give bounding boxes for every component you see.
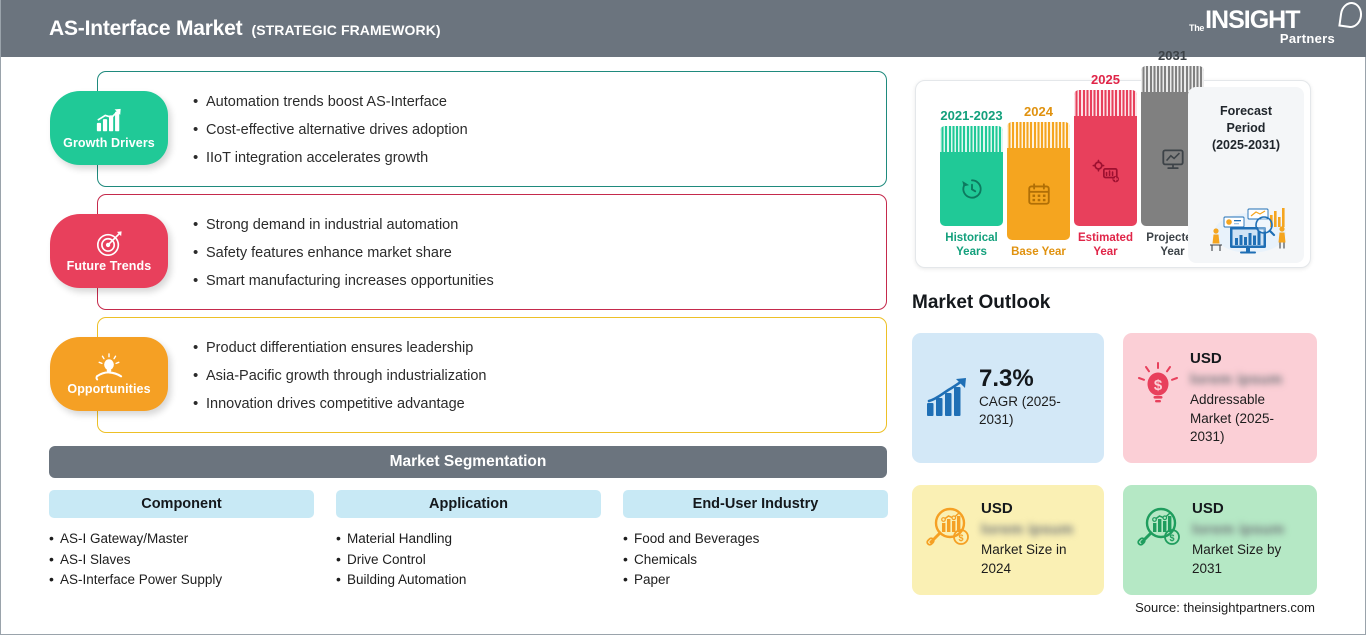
badge-label: Growth Drivers [63, 136, 155, 150]
list-item: Drive Control [336, 550, 601, 571]
bar-caption: Historical Years [940, 232, 1003, 259]
market-size-2031-label: Market Size by 2031 [1192, 541, 1304, 578]
header-title-group: AS-Interface Market (STRATEGIC FRAMEWORK… [49, 17, 441, 41]
market-size-2024-body: USD lorem ipsum Market Size in 2024 [981, 500, 1091, 578]
bar-shape [940, 126, 1003, 226]
bar-stripe [1074, 90, 1137, 116]
infographic-page: AS-Interface Market (STRATEGIC FRAMEWORK… [0, 0, 1366, 635]
forecast-line-2: Period [1188, 120, 1304, 137]
market-outlook-title: Market Outlook [912, 292, 1050, 314]
magnifier-chart-dollar-icon: $ [925, 506, 971, 550]
segment-title: End-User Industry [623, 490, 888, 518]
clock-rewind-icon [959, 176, 985, 202]
future-trends-panel: Strong demand in industrial automation S… [97, 194, 887, 310]
bar-body [940, 152, 1003, 226]
cagr-label: CAGR (2025-2031) [979, 393, 1091, 430]
segmentation-column-application: Application Material Handling Drive Cont… [336, 490, 601, 591]
future-trends-bullets: Strong demand in industrial automation S… [193, 211, 494, 295]
forecast-line-1: Forecast [1188, 103, 1304, 120]
list-item: Safety features enhance market share [193, 239, 494, 267]
list-item: Chemicals [623, 550, 888, 571]
list-item: Paper [623, 570, 888, 591]
list-item: AS-Interface Power Supply [49, 570, 314, 591]
segment-title: Application [336, 490, 601, 518]
currency-label: USD [1190, 350, 1304, 367]
timeline-bar-estimated: 2025 Estimated Year [1074, 72, 1137, 259]
growth-drivers-badge[interactable]: Growth Drivers [50, 91, 168, 165]
monitor-chart-icon [1159, 146, 1187, 172]
bar-caption: Estimated Year [1074, 232, 1137, 259]
list-item: Food and Beverages [623, 529, 888, 550]
list-item: Automation trends boost AS-Interface [193, 88, 468, 116]
bar-body [1007, 148, 1070, 240]
timeline-bar-historical: 2021-2023 Historical Years [940, 108, 1003, 259]
forecast-line-3: (2025-2031) [1188, 137, 1304, 154]
currency-label: USD [981, 500, 1091, 517]
bar-stripe [1007, 122, 1070, 148]
blurred-value: lorem ipsum [1192, 521, 1304, 538]
list-item: Building Automation [336, 570, 601, 591]
market-size-2031-body: USD lorem ipsum Market Size by 2031 [1192, 500, 1304, 578]
logo-the-text: The [1189, 23, 1204, 33]
bar-year-label: 2024 [1007, 104, 1070, 119]
segmentation-column-end-user-industry: End-User Industry Food and Beverages Che… [623, 490, 888, 591]
list-item: Smart manufacturing increases opportunit… [193, 267, 494, 295]
timeline-bar-base: 2024 [1007, 104, 1070, 260]
calendar-icon [1026, 181, 1052, 207]
list-item: Strong demand in industrial automation [193, 211, 494, 239]
bar-shape [1074, 90, 1137, 226]
market-segmentation-title: Market Segmentation [390, 453, 547, 471]
opportunities-badge[interactable]: Opportunities [50, 337, 168, 411]
bar-chart-arrow-icon [94, 107, 124, 135]
segment-title: Component [49, 490, 314, 518]
opportunities-panel: Product differentiation ensures leadersh… [97, 317, 887, 433]
market-size-2031-card: $ USD lorem ipsum Market Size by 2031 [1123, 485, 1317, 595]
list-item: IIoT integration accelerates growth [193, 144, 468, 172]
timeline-bars: 2021-2023 Historical Years 2024 [926, 81, 1206, 269]
svg-text:$: $ [1169, 533, 1174, 543]
logo-insight-text: INSIGHT [1205, 8, 1299, 33]
addressable-market-body: USD lorem ipsum Addressable Market (2025… [1190, 350, 1304, 447]
bar-year-label: 2031 [1141, 48, 1204, 63]
segmentation-column-component: Component AS-I Gateway/Master AS-I Slave… [49, 490, 314, 591]
settings-chart-icon [1092, 158, 1120, 184]
segment-items: AS-I Gateway/Master AS-I Slaves AS-Inter… [49, 529, 314, 591]
magnifier-chart-dollar-icon: $ [1136, 506, 1182, 550]
currency-label: USD [1192, 500, 1304, 517]
list-item: Material Handling [336, 529, 601, 550]
list-item: Asia-Pacific growth through industrializ… [193, 362, 486, 390]
opportunities-bullets: Product differentiation ensures leadersh… [193, 334, 486, 418]
list-item: Innovation drives competitive advantage [193, 390, 486, 418]
list-item: Cost-effective alternative drives adopti… [193, 116, 468, 144]
logo-leaf-icon [1338, 1, 1363, 30]
list-item: Product differentiation ensures leadersh… [193, 334, 486, 362]
market-size-2024-card: $ USD lorem ipsum Market Size in 2024 [912, 485, 1104, 595]
page-subtitle: (STRATEGIC FRAMEWORK) [251, 22, 440, 38]
cagr-card: 7.3% CAGR (2025-2031) [912, 333, 1104, 463]
logo-top-row: The INSIGHT [1189, 8, 1349, 33]
list-item: AS-I Gateway/Master [49, 529, 314, 550]
badge-label: Opportunities [67, 382, 150, 396]
growth-drivers-bullets: Automation trends boost AS-Interface Cos… [193, 88, 468, 172]
blurred-value: lorem ipsum [1190, 371, 1304, 388]
svg-text:$: $ [958, 533, 963, 543]
page-title: AS-Interface Market [49, 17, 242, 41]
segment-items: Material Handling Drive Control Building… [336, 529, 601, 591]
source-attribution: Source: theinsightpartners.com [1135, 600, 1315, 615]
future-trends-badge[interactable]: Future Trends [50, 214, 168, 288]
cagr-value: 7.3% [979, 366, 1091, 392]
blurred-value: lorem ipsum [981, 521, 1091, 538]
market-segmentation-header: Market Segmentation [49, 446, 887, 478]
bar-stripe [940, 126, 1003, 152]
bar-shape [1007, 122, 1070, 240]
forecast-period-panel: Forecast Period (2025-2031) [1188, 87, 1304, 263]
insight-partners-logo: The INSIGHT Partners [1189, 8, 1349, 50]
bar-year-label: 2021-2023 [940, 108, 1003, 123]
data-analysis-illustration [1194, 199, 1298, 255]
badge-label: Future Trends [67, 259, 152, 273]
bar-caption: Base Year [1007, 246, 1070, 260]
segment-items: Food and Beverages Chemicals Paper [623, 529, 888, 591]
svg-text:$: $ [1154, 377, 1163, 394]
cagr-card-body: 7.3% CAGR (2025-2031) [979, 366, 1091, 429]
addressable-market-card: $ USD lorem ipsum Addressable Market (20… [1123, 333, 1317, 463]
bar-body [1074, 116, 1137, 226]
target-dart-icon [94, 230, 124, 258]
market-size-2024-label: Market Size in 2024 [981, 541, 1091, 578]
market-timeline-chart: 2021-2023 Historical Years 2024 [915, 80, 1311, 268]
bar-year-label: 2025 [1074, 72, 1137, 87]
growth-bar-arrow-icon [925, 377, 969, 419]
growth-drivers-panel: Automation trends boost AS-Interface Cos… [97, 71, 887, 187]
list-item: AS-I Slaves [49, 550, 314, 571]
addressable-market-label: Addressable Market (2025-2031) [1190, 391, 1304, 447]
lightbulb-hand-icon [94, 353, 124, 381]
lightbulb-dollar-icon: $ [1136, 362, 1180, 408]
